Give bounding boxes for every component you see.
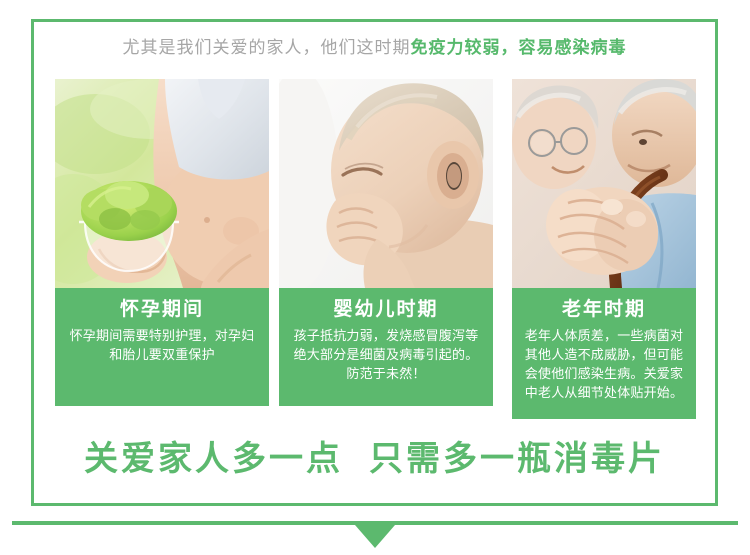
headline-grey-text: 尤其是我们关爱的家人，他们这时期 (123, 38, 411, 57)
card-title-pregnancy: 怀孕期间 (63, 297, 261, 323)
card-title-infant: 婴幼儿时期 (287, 297, 485, 323)
card-body-infant: 孩子抵抗力弱，发烧感冒腹泻等绝大部分是细菌及病毒引起的。防范于未然！ (287, 326, 485, 383)
slogan-right-text: 只需多一瓶消毒片 (369, 440, 665, 478)
card-infant: 婴幼儿时期 孩子抵抗力弱，发烧感冒腹泻等绝大部分是细菌及病毒引起的。防范于未然！ (279, 79, 493, 406)
slogan-left-text: 关爱家人多一点 (84, 440, 343, 478)
promo-banner-page: 尤其是我们关爱的家人，他们这时期免疫力较弱，容易感染病毒 (0, 0, 750, 555)
headline: 尤其是我们关爱的家人，他们这时期免疫力较弱，容易感染病毒 (31, 36, 718, 60)
card-body-pregnancy: 怀孕期间需要特别护理，对孕妇和胎儿要双重保护 (63, 326, 261, 364)
down-arrow-icon (355, 525, 395, 548)
card-elderly: 老年时期 老年人体质差，一些病菌对其他人造不成威胁，但可能会使他们感染生病。关爱… (512, 79, 696, 419)
card-title-elderly: 老年时期 (520, 297, 688, 323)
card-body-elderly: 老年人体质差，一些病菌对其他人造不成威胁，但可能会使他们感染生病。关爱家中老人从… (520, 326, 688, 402)
card-pregnancy: 怀孕期间 怀孕期间需要特别护理，对孕妇和胎儿要双重保护 (55, 79, 269, 406)
card-panel-infant: 婴幼儿时期 孩子抵抗力弱，发烧感冒腹泻等绝大部分是细菌及病毒引起的。防范于未然！ (279, 288, 493, 406)
headline-green-text: 免疫力较弱，容易感染病毒 (411, 38, 627, 57)
card-group: 怀孕期间 怀孕期间需要特别护理，对孕妇和胎儿要双重保护 (55, 79, 695, 419)
card-photo-infant (279, 79, 493, 288)
slogan: 关爱家人多一点只需多一瓶消毒片 (31, 437, 718, 481)
card-panel-pregnancy: 怀孕期间 怀孕期间需要特别护理，对孕妇和胎儿要双重保护 (55, 288, 269, 406)
card-photo-elderly (512, 79, 696, 288)
card-photo-pregnancy (55, 79, 269, 288)
card-panel-elderly: 老年时期 老年人体质差，一些病菌对其他人造不成威胁，但可能会使他们感染生病。关爱… (512, 288, 696, 419)
